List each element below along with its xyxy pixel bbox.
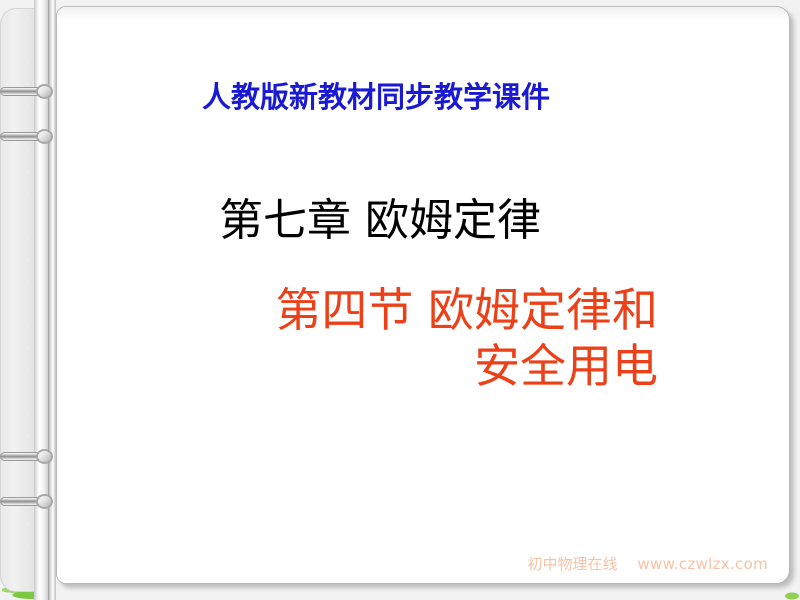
leaf-decoration-icon-right <box>778 586 800 600</box>
binder-ring-1 <box>0 84 58 99</box>
watermark-site-name: 初中物理在线 <box>527 553 617 574</box>
section-title-line-1: 第四节 欧姆定律和 <box>138 282 658 338</box>
section-title-line-2: 安全用电 <box>138 338 658 394</box>
presentation-slide: 人教版新教材同步教学课件 第七章 欧姆定律 第四节 欧姆定律和 安全用电 初中物… <box>0 0 800 600</box>
binder-spine <box>0 0 64 600</box>
binder-ring-loop <box>36 449 53 464</box>
course-banner-text: 人教版新教材同步教学课件 <box>56 74 696 116</box>
watermark: 初中物理在线 www.czwlzx.com <box>527 553 768 574</box>
binder-ring-2 <box>0 129 58 144</box>
binder-ring-loop <box>36 84 53 99</box>
binder-ring-4 <box>0 494 58 509</box>
binder-ring-loop <box>36 129 53 144</box>
watermark-site-url: www.czwlzx.com <box>637 555 768 573</box>
binder-ring-3 <box>0 449 58 464</box>
binder-ring-loop <box>36 494 53 509</box>
chapter-title-text: 第七章 欧姆定律 <box>56 184 704 248</box>
slide-content-area: 人教版新教材同步教学课件 第七章 欧姆定律 第四节 欧姆定律和 安全用电 初中物… <box>56 6 790 584</box>
section-title-block: 第四节 欧姆定律和 安全用电 <box>138 282 658 394</box>
